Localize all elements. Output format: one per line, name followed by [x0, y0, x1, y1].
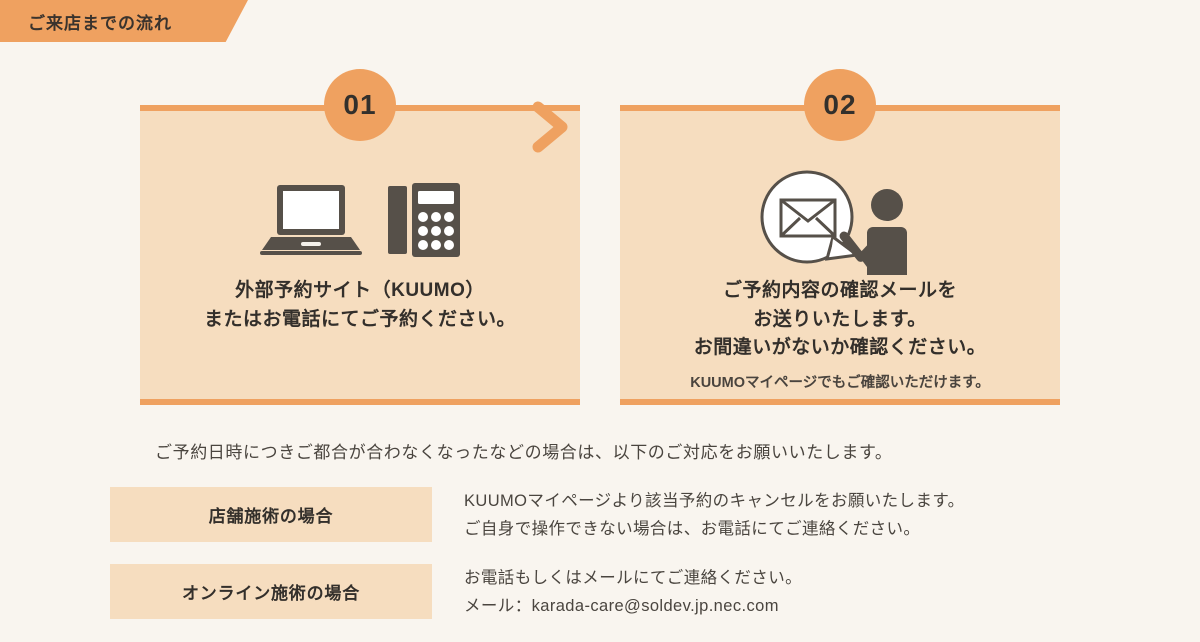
section-header-banner: ご来店までの流れ — [0, 0, 248, 42]
row-description-line: ご自身で操作できない場合は、お電話にてご連絡ください。 — [464, 516, 965, 544]
page-title: ご来店までの流れ — [0, 9, 172, 34]
step-icons-02 — [745, 167, 935, 277]
step-text-line: またはお電話にてご予約ください。 — [204, 306, 516, 335]
cancellation-rows: 店舗施術の場合 KUUMOマイページより該当予約のキャンセルをお願いたします。 … — [110, 487, 1110, 642]
step-text-01: 外部予約サイト（KUUMO） またはお電話にてご予約ください。 — [204, 277, 516, 334]
step-text-line: お送りいたします。 — [690, 306, 990, 335]
step-badge-01: 01 — [324, 69, 396, 141]
row-label-online: オンライン施術の場合 — [110, 564, 432, 619]
arrow-right-icon — [532, 101, 580, 153]
row-label-text: オンライン施術の場合 — [182, 579, 360, 604]
step-icons-01 — [260, 167, 460, 277]
desk-phone-icon — [388, 183, 460, 262]
email-bubble-icon — [762, 172, 857, 262]
step-card-02: 02 — [620, 105, 1060, 405]
table-row: 店舗施術の場合 KUUMOマイページより該当予約のキャンセルをお願いたします。 … — [110, 487, 1110, 543]
step-text-line: お間違いがないか確認ください。 — [690, 334, 990, 363]
laptop-icon — [260, 183, 362, 262]
row-description-online: お電話もしくはメールにてご連絡ください。 メール：karada-care@sol… — [464, 564, 802, 620]
row-description-line: お電話もしくはメールにてご連絡ください。 — [464, 565, 802, 593]
steps-container: 01 — [0, 60, 1200, 420]
lead-paragraph: ご予約日時につきご都合が合わなくなったなどの場合は、以下のご対応をお願いいたしま… — [155, 438, 893, 463]
row-description-line: KUUMOマイページより該当予約のキャンセルをお願いたします。 — [464, 488, 965, 516]
step-text-line: 外部予約サイト（KUUMO） — [204, 277, 516, 306]
row-label-store: 店舗施術の場合 — [110, 487, 432, 542]
row-label-text: 店舗施術の場合 — [209, 502, 334, 527]
step-card-bottom-border — [140, 399, 580, 405]
row-description-email: メール：karada-care@soldev.jp.nec.com — [464, 593, 802, 621]
step-card-body-02: ご予約内容の確認メールを お送りいたします。 お間違いがないか確認ください。 K… — [620, 111, 1060, 399]
step-card-body-01: 外部予約サイト（KUUMO） またはお電話にてご予約ください。 — [140, 111, 580, 399]
step-card-bottom-border — [620, 399, 1060, 405]
step-card-01: 01 — [140, 105, 580, 405]
step-text-line: ご予約内容の確認メールを — [690, 277, 990, 306]
step-badge-02: 02 — [804, 69, 876, 141]
step-note: KUUMOマイページでもご確認いただけます。 — [690, 373, 990, 395]
row-description-store: KUUMOマイページより該当予約のキャンセルをお願いたします。 ご自身で操作でき… — [464, 487, 965, 543]
step-text-02: ご予約内容の確認メールを お送りいたします。 お間違いがないか確認ください。 K… — [690, 277, 990, 394]
table-row: オンライン施術の場合 お電話もしくはメールにてご連絡ください。 メール：kara… — [110, 564, 1110, 620]
